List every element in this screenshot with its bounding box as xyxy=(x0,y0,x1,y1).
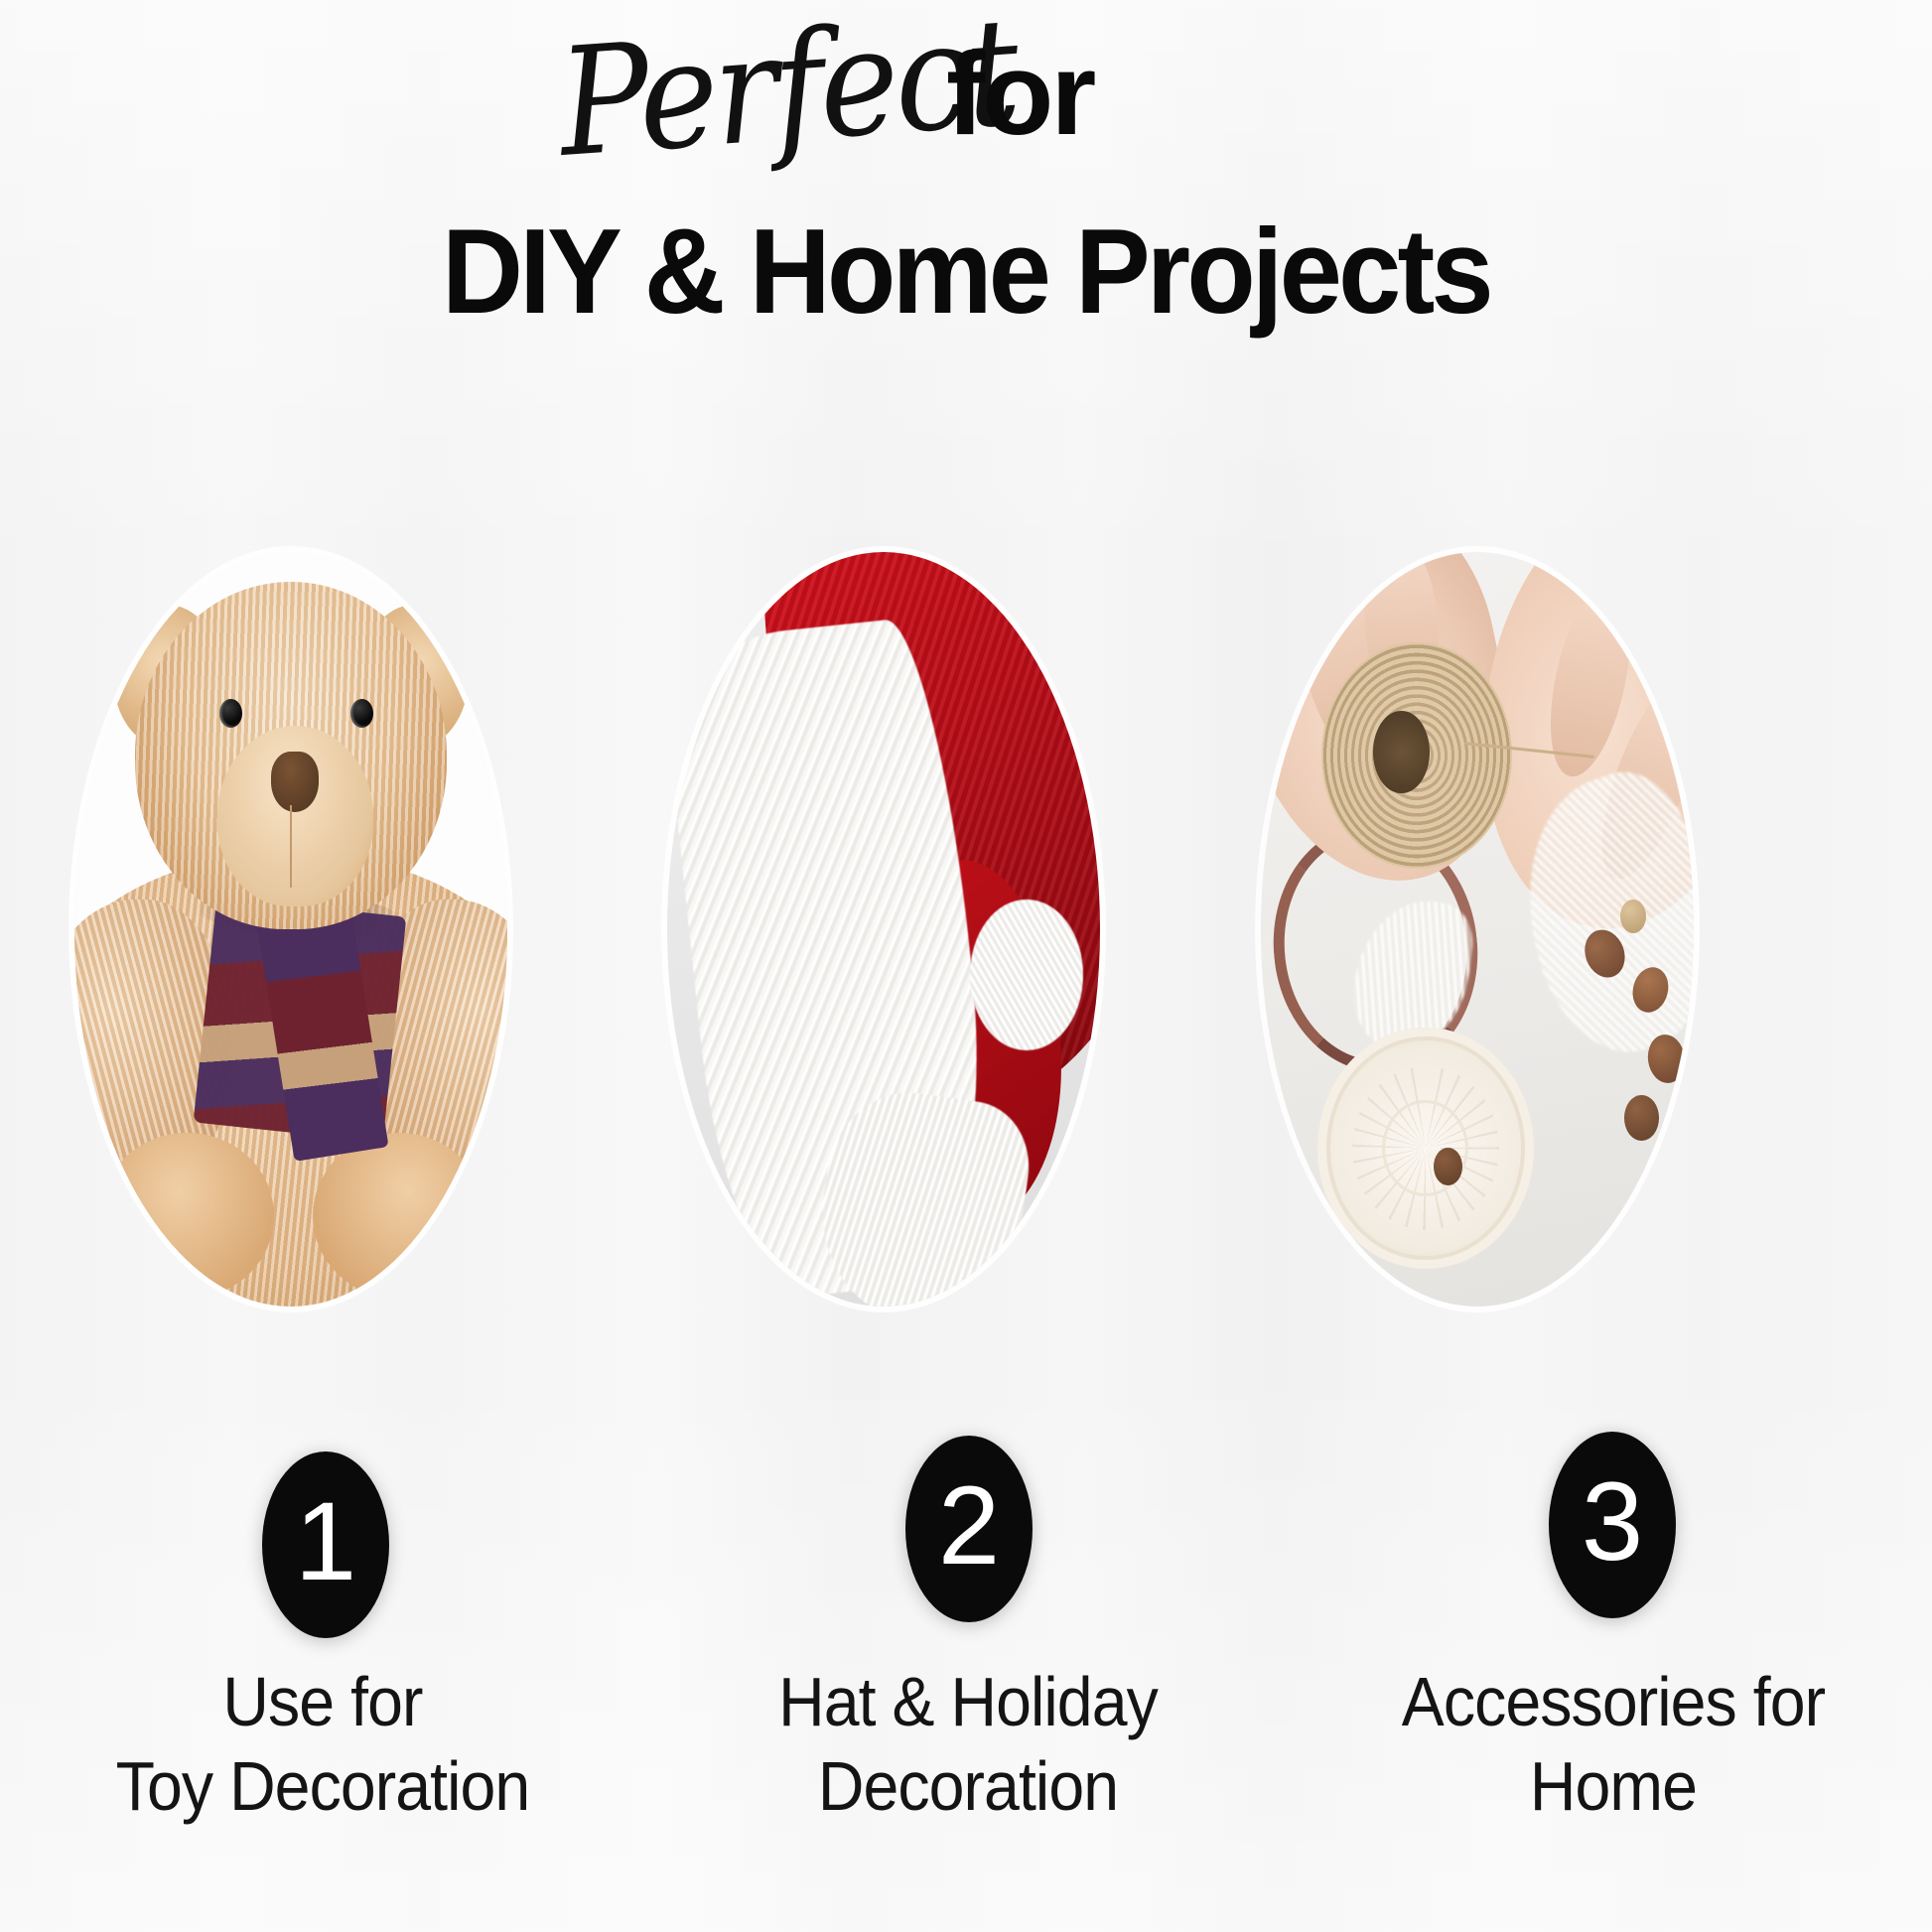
caption-card-3: Accessories for Home xyxy=(1357,1660,1868,1830)
bear-foot-right xyxy=(313,1133,485,1299)
page-title: Perfect for DIY & Home Projects xyxy=(0,0,1932,169)
photo-teddy-bear xyxy=(74,552,507,1307)
bear-mouth-line xyxy=(290,805,292,889)
title-line-1: Perfect for xyxy=(0,0,1932,169)
photo-santa-hat xyxy=(667,552,1100,1307)
badge-number-3: 3 xyxy=(1549,1432,1676,1618)
feature-card-1 xyxy=(74,552,507,1307)
title-line-2: DIY & Home Projects xyxy=(68,210,1864,332)
bear-foot-left xyxy=(100,1133,273,1299)
title-bold-word: for xyxy=(946,36,1093,153)
bear-eye-left xyxy=(219,699,242,728)
craft-bead-4 xyxy=(1645,1033,1689,1086)
caption-3-line-1: Accessories for xyxy=(1402,1663,1825,1740)
craft-bead-5 xyxy=(1624,1095,1659,1141)
photo-frame-teddy-bear xyxy=(74,552,507,1307)
feature-card-3 xyxy=(1261,552,1694,1307)
badge-number-2: 2 xyxy=(905,1436,1033,1622)
photo-frame-dreamcatcher xyxy=(1261,552,1694,1307)
badge-1-label: 1 xyxy=(295,1486,356,1597)
caption-1-line-1: Use for xyxy=(222,1663,422,1740)
feature-card-2 xyxy=(667,552,1100,1307)
caption-card-1: Use for Toy Decoration xyxy=(67,1660,578,1830)
craft-bead-3 xyxy=(1620,899,1646,933)
badge-2-label: 2 xyxy=(938,1470,1000,1582)
caption-2-line-1: Hat & Holiday xyxy=(778,1663,1158,1740)
bear-eye-right xyxy=(350,699,373,728)
photo-dreamcatcher-craft xyxy=(1261,552,1694,1307)
caption-3-line-2: Home xyxy=(1357,1744,1868,1829)
caption-card-2: Hat & Holiday Decoration xyxy=(712,1660,1223,1830)
craft-bead-6 xyxy=(1434,1148,1461,1185)
badge-3-label: 3 xyxy=(1582,1466,1643,1578)
caption-2-line-2: Decoration xyxy=(712,1744,1223,1829)
badge-number-1: 1 xyxy=(262,1451,389,1638)
craft-spool-hole xyxy=(1373,711,1430,794)
caption-1-line-2: Toy Decoration xyxy=(67,1744,578,1829)
craft-dreamcatcher xyxy=(1317,1028,1534,1269)
hat-pom-pom xyxy=(970,899,1082,1050)
photo-frame-santa-hat xyxy=(667,552,1100,1307)
